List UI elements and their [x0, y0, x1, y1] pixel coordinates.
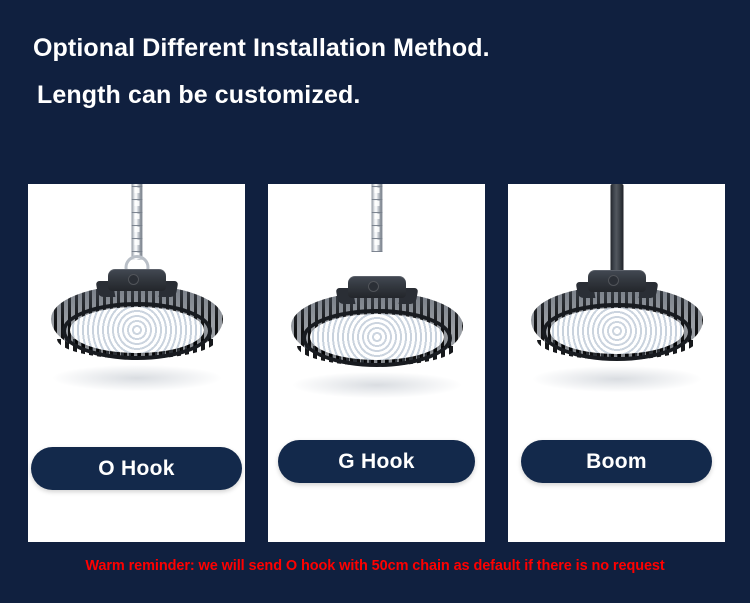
lamp-shadow	[533, 366, 701, 392]
chain-icon	[371, 184, 382, 252]
lamp-driver-housing	[348, 276, 406, 298]
warm-reminder-note: Warm reminder: we will send O hook with …	[0, 558, 750, 574]
high-bay-lamp-icon	[531, 270, 703, 392]
lamp-driver-housing	[588, 270, 646, 292]
product-image-boom	[508, 184, 725, 434]
g-hook-icon	[365, 246, 389, 276]
installation-option-card[interactable]: O Hook	[28, 184, 245, 542]
chain-icon	[131, 184, 142, 260]
lamp-lens	[310, 314, 444, 360]
installation-method-banner: Optional Different Installation Method. …	[0, 0, 750, 603]
high-bay-lamp-icon	[291, 276, 463, 398]
lamp-lens	[70, 307, 204, 353]
product-image-g-hook	[268, 184, 485, 434]
heading-block: Optional Different Installation Method. …	[0, 36, 750, 108]
high-bay-lamp-icon	[51, 269, 223, 391]
product-image-o-hook	[28, 184, 245, 434]
lamp-lens	[550, 308, 684, 354]
headline-primary: Optional Different Installation Method.	[0, 36, 750, 61]
option-label-o-hook[interactable]: O Hook	[31, 447, 242, 490]
headline-secondary: Length can be customized.	[0, 83, 750, 108]
option-label-g-hook[interactable]: G Hook	[278, 440, 475, 483]
installation-option-card[interactable]: G Hook	[268, 184, 485, 542]
lamp-driver-housing	[108, 269, 166, 291]
boom-pole-icon	[610, 184, 623, 280]
installation-options-row: O Hook	[28, 184, 725, 542]
installation-option-card[interactable]: Boom	[508, 184, 725, 542]
lamp-shadow	[293, 372, 461, 398]
lamp-shadow	[53, 365, 221, 391]
option-label-boom[interactable]: Boom	[521, 440, 712, 483]
